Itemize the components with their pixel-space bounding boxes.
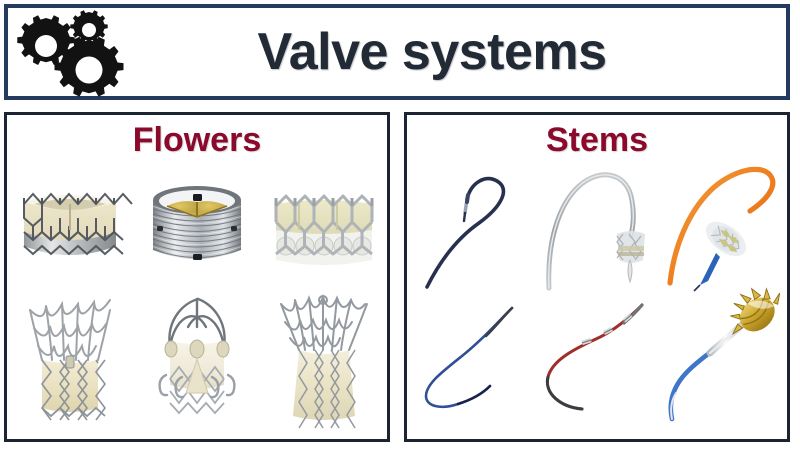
page-title: Valve systems: [138, 26, 786, 78]
catheter-orange-balloon-valve[interactable]: [660, 161, 787, 293]
panel-flowers: Flowers: [4, 112, 390, 442]
panel-flowers-title: Flowers: [7, 123, 387, 159]
valve-crossed-arch-hooks[interactable]: [134, 292, 261, 423]
flowers-grid: [7, 161, 387, 423]
valve-balloon-expandable-hex-cream[interactable]: [7, 161, 134, 292]
panel-stems-title: Stems: [407, 123, 787, 159]
panel-stems: Stems: [404, 112, 790, 442]
gears-icon: [8, 8, 138, 96]
valve-balloon-expandable-hex-pale[interactable]: [260, 161, 387, 292]
catheter-navy-hooked-tip[interactable]: [407, 161, 534, 293]
valve-woven-mesh-gold-leaflets[interactable]: [134, 161, 261, 292]
title-bar: Valve systems: [4, 4, 790, 100]
catheter-red-marker-bands[interactable]: [534, 293, 661, 423]
valve-self-expanding-diamond-skirt[interactable]: [7, 292, 134, 423]
guidewire-blue-j-curve[interactable]: [407, 293, 534, 423]
valve-tall-flared-mesh[interactable]: [260, 292, 387, 423]
catheter-grey-mounted-valve[interactable]: [534, 161, 661, 293]
stems-grid: [407, 161, 787, 423]
slide-root: Valve systems Flowers: [0, 0, 800, 450]
catheter-blue-gold-crown[interactable]: [660, 293, 787, 423]
